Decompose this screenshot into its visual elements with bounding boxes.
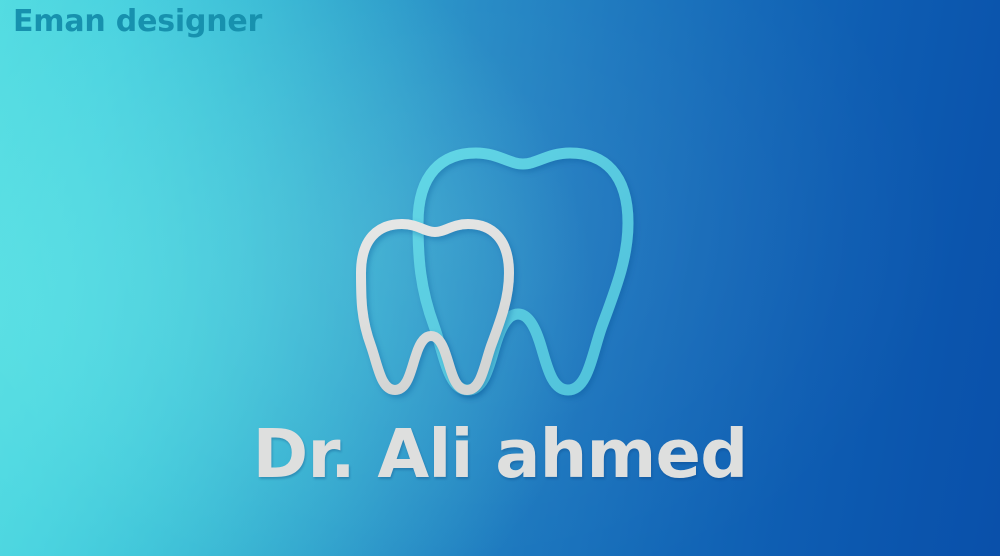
small-tooth-icon (361, 224, 509, 390)
brand-name-text: Dr. Ali ahmed (0, 417, 1000, 492)
logo-poster-canvas: Eman designer (0, 0, 1000, 556)
dental-tooth-logo (330, 128, 650, 408)
watermark-text: Eman designer (13, 4, 262, 40)
